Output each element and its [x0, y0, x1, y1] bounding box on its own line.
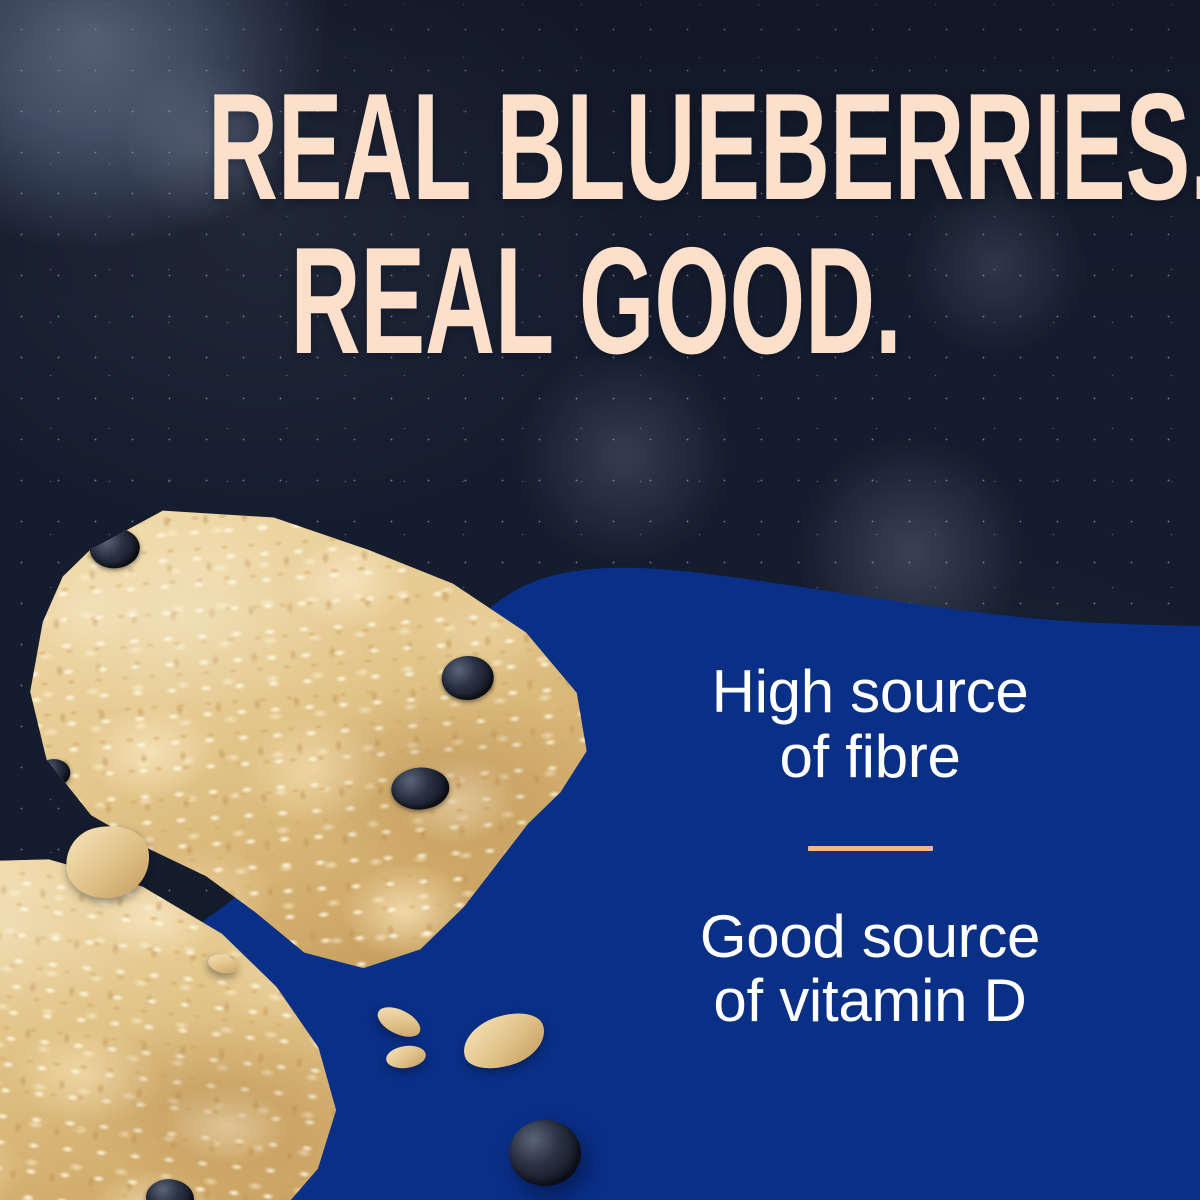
claim-fibre-line-1: High source [620, 660, 1120, 725]
claim-vitamin-d: Good source of vitamin D [620, 905, 1120, 1035]
claim-fibre-line-2: of fibre [620, 725, 1120, 790]
claim-vitamin-d-line-1: Good source [620, 905, 1120, 970]
promo-canvas: REAL BLUEBERRIES. REAL GOOD. High source [0, 0, 1200, 1200]
nutrition-claims-panel: High source of fibre Good source of vita… [620, 660, 1120, 1034]
claim-fibre: High source of fibre [620, 660, 1120, 790]
claim-vitamin-d-line-2: of vitamin D [620, 969, 1120, 1034]
dried-blueberry [509, 1120, 581, 1186]
claim-divider [808, 846, 933, 851]
